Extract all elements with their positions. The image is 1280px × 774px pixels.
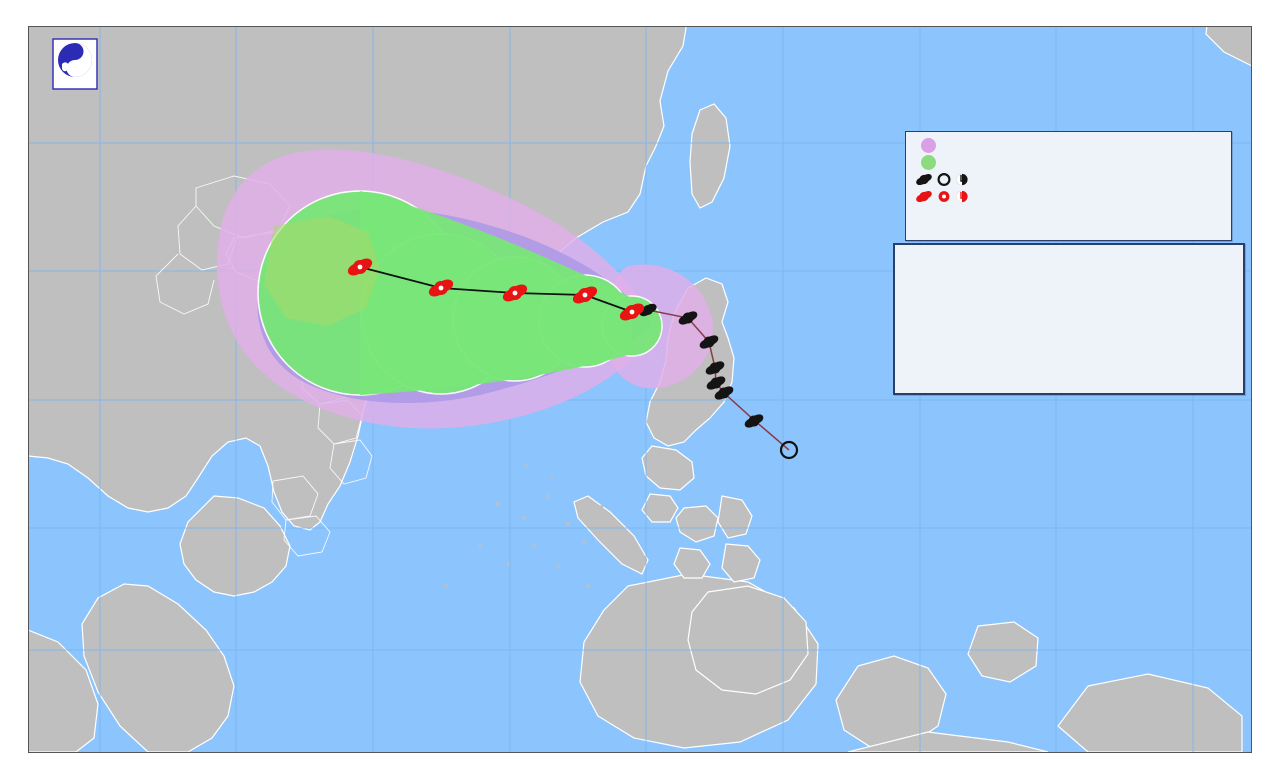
legend-symbol-pink [916,138,978,153]
storm-info-panel [893,243,1245,395]
storm-forecast-map-page [0,0,1280,774]
frame-top [28,26,1252,27]
frame-left [28,26,29,753]
organization-brand [52,38,106,90]
latitude-axis-left [0,0,28,774]
legend-symbol-red [916,189,978,204]
pink-circle-icon [921,138,936,153]
frame-bottom [28,752,1252,753]
legend-symbol-green [916,155,978,170]
legend-row-past [916,171,1231,188]
red-low-pressure-icon [956,191,967,202]
latitude-axis-right [1252,0,1280,774]
frame-right [1251,26,1252,753]
red-storm-symbols-icon [916,189,974,204]
black-storm-symbols-icon [916,172,974,187]
longitude-axis-bottom [0,752,1280,774]
low-pressure-icon [956,174,967,185]
legend-row-current [916,188,1231,205]
legend-row-gale [916,137,1231,154]
green-circle-icon [921,155,936,170]
nchmf-yin-yang-logo [52,38,98,90]
legend-symbol-black [916,172,978,187]
longitude-axis-top [0,0,1280,26]
legend-panel [905,131,1232,241]
open-circle-icon [939,174,950,185]
legend-row-passage [916,154,1231,171]
